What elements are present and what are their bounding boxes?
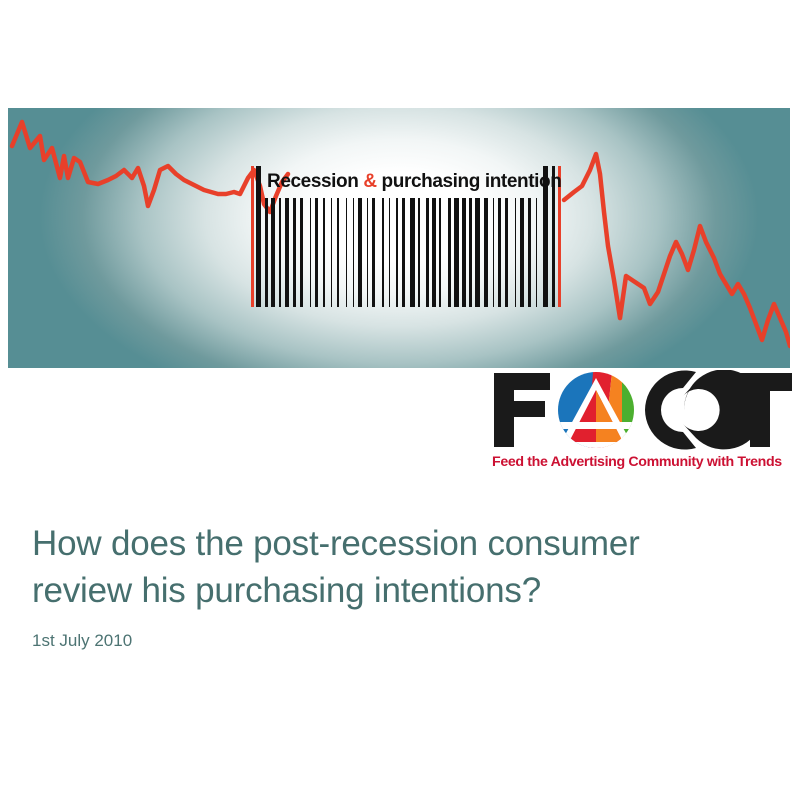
barcode-bar (462, 198, 465, 307)
logo-letter-a (558, 372, 638, 448)
barcode-bar (515, 198, 517, 307)
barcode-bar (484, 198, 488, 307)
barcode-bar (432, 198, 435, 307)
barcode-bar (439, 198, 441, 307)
barcode-bar (337, 198, 339, 307)
barcode-bar (358, 198, 362, 307)
barcode-bar (293, 198, 296, 307)
barcode-bar (367, 198, 369, 307)
barcode-bar (418, 198, 420, 307)
barcode-bar (382, 198, 384, 307)
logo-letter-f (494, 373, 550, 447)
barcode-left-guard-bar (256, 166, 261, 307)
barcode-title-prefix: Recession (267, 171, 363, 192)
title-block: How does the post-recession consumer rev… (32, 520, 762, 651)
barcode-bar (426, 198, 429, 307)
barcode-bar (353, 198, 355, 307)
barcode-bar (372, 198, 375, 307)
barcode-bar (410, 198, 415, 307)
chart-line-right (564, 154, 790, 346)
barcode-bar (498, 198, 501, 307)
barcode-graphic: Recession & purchasing intention (251, 166, 561, 307)
page-title: How does the post-recession consumer rev… (32, 520, 762, 614)
barcode-bar (528, 198, 531, 307)
fact-wordmark (492, 370, 792, 450)
barcode-bar (389, 198, 391, 307)
barcode-bar (520, 198, 524, 307)
barcode-bar (300, 198, 303, 307)
chart-line-left (12, 122, 288, 212)
fact-logo: Feed the Advertising Community with Tren… (492, 370, 792, 478)
barcode-bar (505, 198, 508, 307)
barcode-bar (396, 198, 398, 307)
barcode-bar (346, 198, 348, 307)
barcode-bar (475, 198, 480, 307)
barcode-bar (323, 198, 325, 307)
barcode-bar (279, 198, 281, 307)
barcode-bar (454, 198, 458, 307)
barcode-bar (536, 198, 538, 307)
barcode-bar (265, 198, 268, 307)
barcode-bar (310, 198, 312, 307)
deck-date: 1st July 2010 (32, 631, 762, 651)
barcode-bar (448, 198, 451, 307)
barcode-bar (402, 198, 405, 307)
barcode-left-red-rule (251, 166, 254, 307)
barcode-title-ampersand: & (363, 171, 376, 192)
barcode-bar (331, 198, 333, 307)
fact-tagline: Feed the Advertising Community with Tren… (492, 454, 792, 470)
barcode-bar (315, 198, 318, 307)
barcode-bar (493, 198, 495, 307)
barcode-title: Recession & purchasing intention (267, 168, 541, 196)
barcode-title-suffix: purchasing intention (377, 171, 562, 192)
barcode-bar (271, 198, 275, 307)
barcode-bars (265, 198, 541, 307)
hero-banner: Recession & purchasing intention (8, 108, 790, 368)
barcode-bar (469, 198, 472, 307)
barcode-bar (285, 198, 289, 307)
